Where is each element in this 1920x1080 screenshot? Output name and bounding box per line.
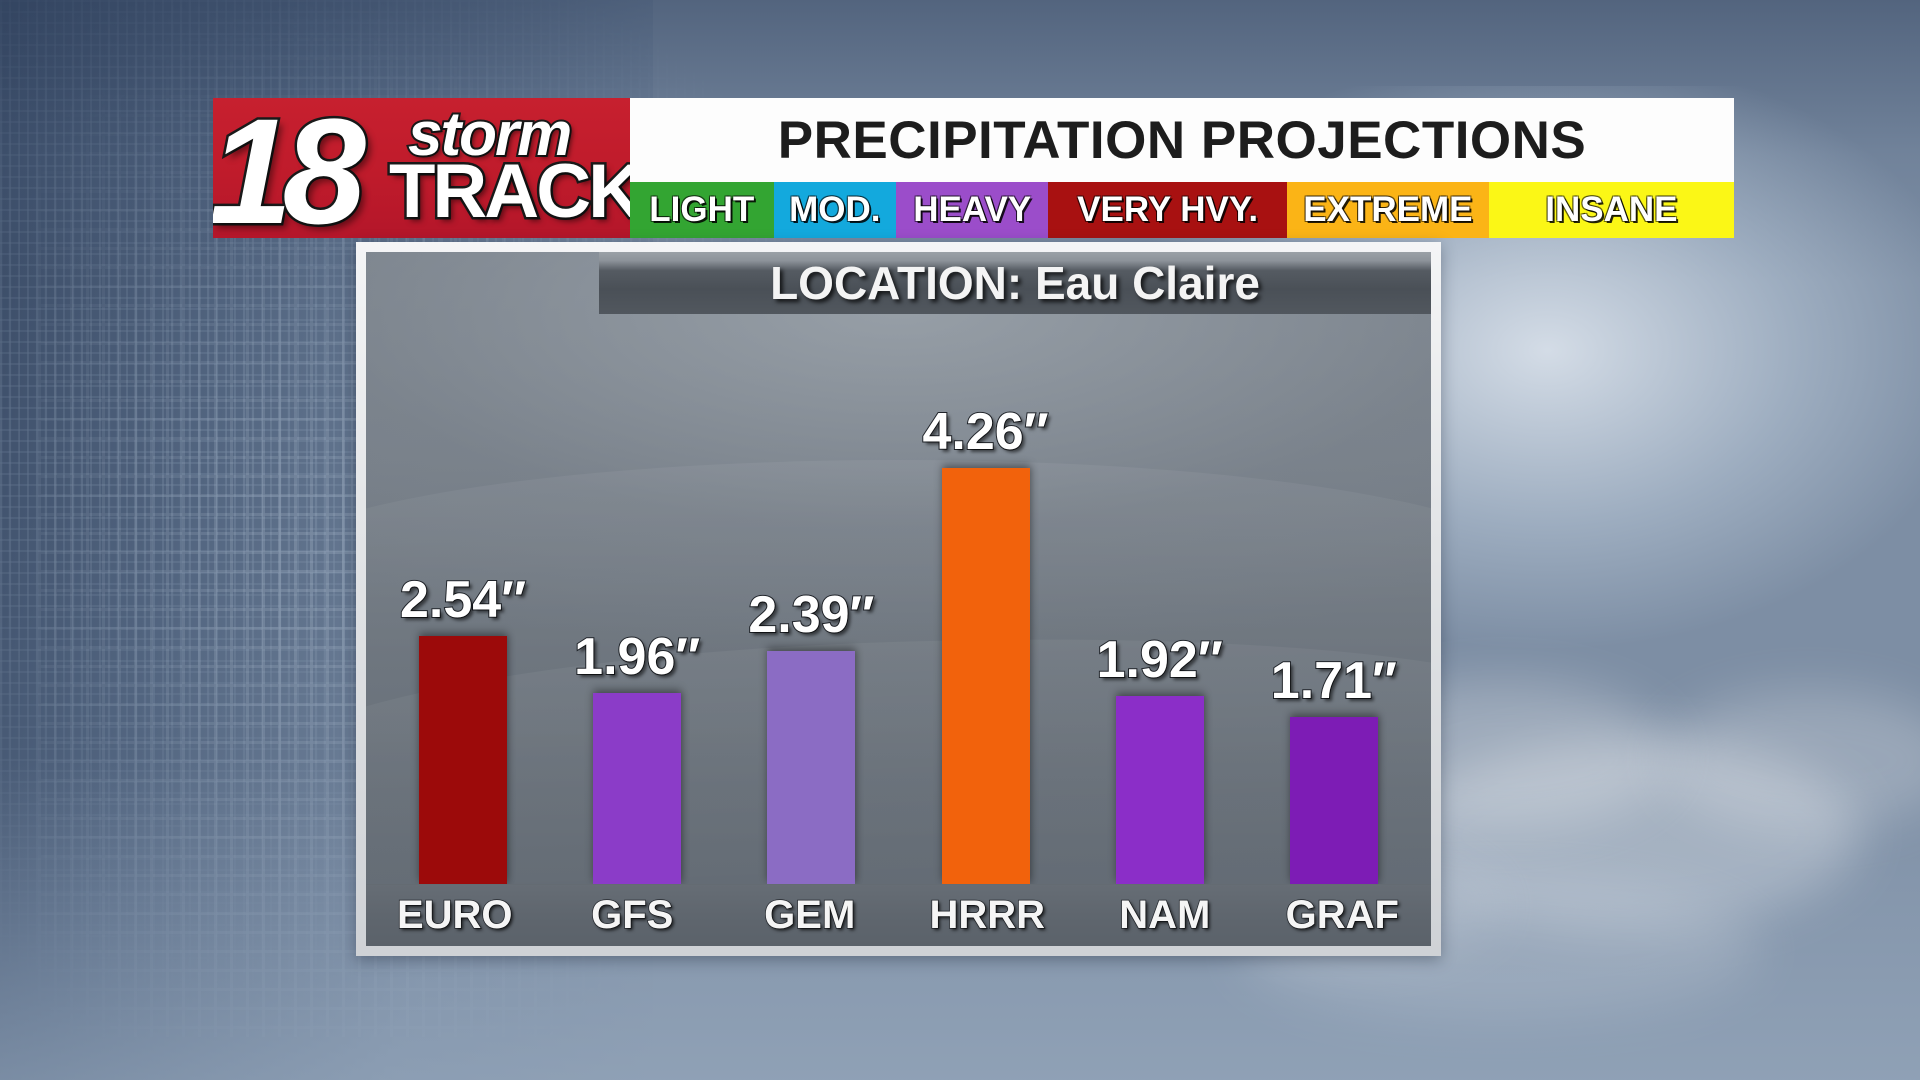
bar-column-gfs: 1.96″: [561, 314, 714, 884]
bar-rect: [593, 693, 681, 884]
legend-cell-mod: MOD.: [774, 182, 897, 238]
bar-rect: [1290, 717, 1378, 884]
bar-column-euro: 2.54″: [387, 314, 540, 884]
axis-label-gem: GEM: [732, 893, 887, 938]
chart-panel-inner: LOCATION: Eau Claire 2.54″1.96″2.39″4.26…: [366, 252, 1431, 946]
bar-column-nam: 1.92″: [1083, 314, 1236, 884]
bar-column-gem: 2.39″: [735, 314, 888, 884]
bar-rect: [1116, 696, 1204, 884]
bar-rect: [767, 651, 855, 884]
bar-rect: [942, 468, 1030, 884]
legend-cell-very-hvy: VERY HVY.: [1048, 182, 1286, 238]
legend-label: VERY HVY.: [1077, 190, 1258, 230]
header-banner: 18 storm TRACK PRECIPITATION PROJECTIONS…: [213, 98, 1734, 238]
page-title-bar: PRECIPITATION PROJECTIONS: [630, 98, 1734, 182]
axis-label-nam: NAM: [1087, 893, 1242, 938]
legend-cell-light: LIGHT: [630, 182, 774, 238]
legend-cell-heavy: HEAVY: [896, 182, 1048, 238]
bar-value-label: 2.54″: [400, 570, 526, 630]
axis-label-gfs: GFS: [555, 893, 710, 938]
axis-label-graf: GRAF: [1265, 893, 1420, 938]
bar-chart-axis-labels: EUROGFSGEMHRRRNAMGRAF: [366, 884, 1431, 946]
logo-track-word: TRACK: [389, 154, 630, 230]
bar-chart: 2.54″1.96″2.39″4.26″1.92″1.71″ EUROGFSGE…: [366, 314, 1431, 946]
location-label: LOCATION: Eau Claire: [770, 256, 1260, 310]
legend-label: MOD.: [789, 190, 880, 230]
chart-panel: LOCATION: Eau Claire 2.54″1.96″2.39″4.26…: [356, 242, 1441, 956]
axis-label-hrrr: HRRR: [910, 893, 1065, 938]
page-title: PRECIPITATION PROJECTIONS: [778, 110, 1587, 171]
bar-value-label: 1.96″: [574, 627, 700, 687]
bar-rect: [419, 636, 507, 884]
legend-label: HEAVY: [913, 190, 1031, 230]
legend-cell-insane: INSANE: [1489, 182, 1734, 238]
station-logo: 18 storm TRACK: [213, 98, 630, 238]
bar-value-label: 4.26″: [922, 402, 1048, 462]
bar-value-label: 2.39″: [748, 585, 874, 645]
legend-label: INSANE: [1545, 190, 1677, 230]
legend-label: EXTREME: [1303, 190, 1472, 230]
logo-channel-number: 18: [213, 102, 356, 238]
legend-label: LIGHT: [649, 190, 754, 230]
bar-value-label: 1.92″: [1097, 630, 1223, 690]
axis-label-euro: EURO: [377, 893, 532, 938]
legend-cell-extreme: EXTREME: [1287, 182, 1489, 238]
precip-intensity-legend: LIGHTMOD.HEAVYVERY HVY.EXTREMEINSANE: [630, 182, 1734, 238]
bar-column-graf: 1.71″: [1258, 314, 1411, 884]
location-bar: LOCATION: Eau Claire: [599, 252, 1431, 314]
bar-chart-bars: 2.54″1.96″2.39″4.26″1.92″1.71″: [376, 314, 1421, 884]
bar-value-label: 1.71″: [1271, 651, 1397, 711]
bar-column-hrrr: 4.26″: [909, 314, 1062, 884]
